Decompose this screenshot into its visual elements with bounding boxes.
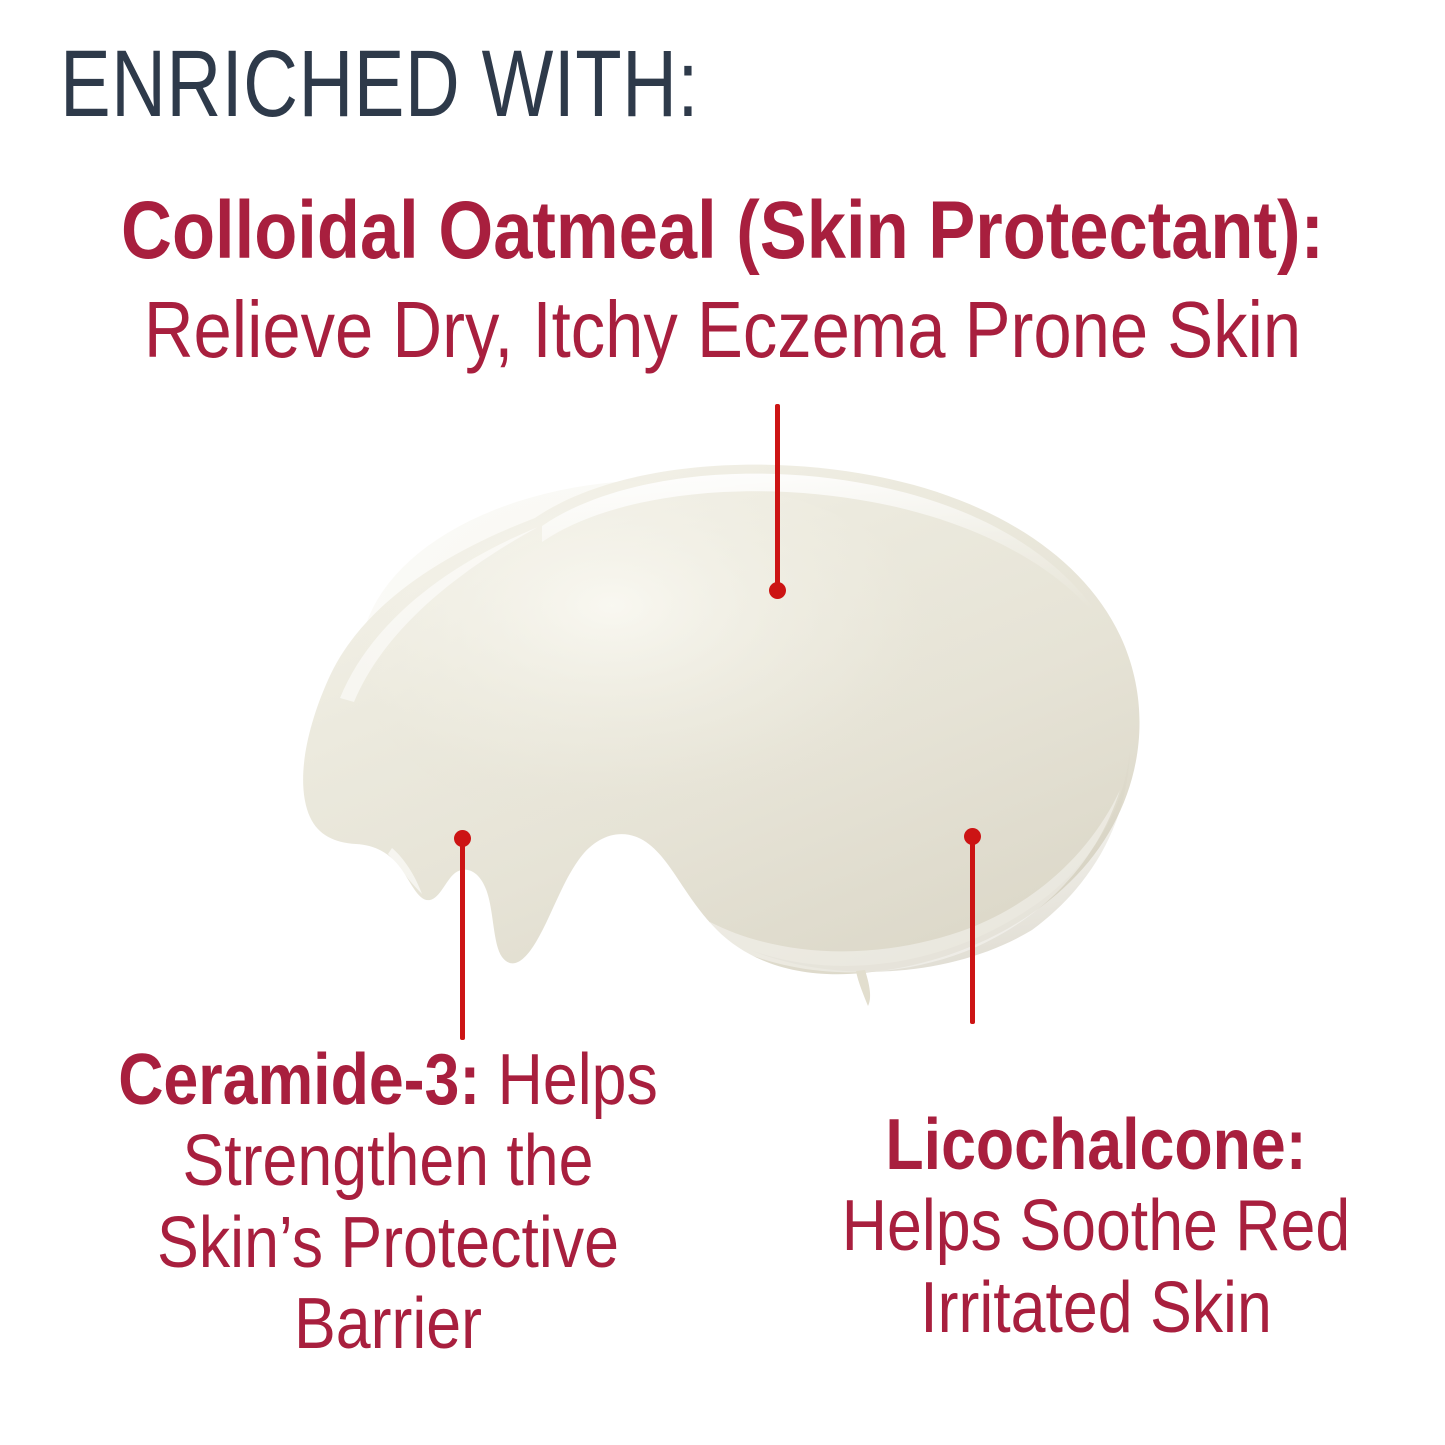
cream-swatch xyxy=(280,430,1160,1010)
ingredient-description-ceramide-3-line-4: Barrier xyxy=(66,1284,710,1365)
ingredient-description-colloidal-oatmeal: Relieve Dry, Itchy Eczema Prone Skin xyxy=(101,288,1344,373)
ingredient-block-licochalcone: Licochalcone: Helps Soothe Red Irritated… xyxy=(760,1105,1432,1349)
pointer-line-colloidal-oatmeal xyxy=(775,404,780,604)
ingredient-term-ceramide-3: Ceramide-3: xyxy=(118,1040,480,1120)
pointer-stem xyxy=(460,838,465,1040)
ingredient-description-ceramide-3-line-2: Strengthen the xyxy=(66,1121,710,1202)
ingredient-line: Ceramide-3: Helps xyxy=(66,1040,710,1121)
pointer-stem xyxy=(775,404,780,592)
pointer-dot xyxy=(769,582,786,599)
ingredient-block-colloidal-oatmeal: Colloidal Oatmeal (Skin Protectant): Rel… xyxy=(0,188,1445,373)
ingredient-description-ceramide-3-line-3: Skin’s Protective xyxy=(66,1203,710,1284)
pointer-dot xyxy=(454,830,471,847)
pointer-line-licochalcone xyxy=(970,828,975,1024)
ingredient-description-licochalcone-line-2: Irritated Skin xyxy=(804,1268,1389,1349)
pointer-dot xyxy=(964,828,981,845)
ingredient-description-ceramide-3-line-1: Helps xyxy=(498,1040,658,1120)
page-title: ENRICHED WITH: xyxy=(60,36,699,133)
ingredient-term-colloidal-oatmeal: Colloidal Oatmeal (Skin Protectant): xyxy=(101,188,1344,274)
ingredient-block-ceramide-3: Ceramide-3: Helps Strengthen the Skin’s … xyxy=(18,1040,758,1365)
pointer-stem xyxy=(970,836,975,1024)
infographic-canvas: ENRICHED WITH: Colloidal Oatmeal (Skin P… xyxy=(0,0,1445,1445)
ingredient-description-licochalcone-line-1: Helps Soothe Red xyxy=(804,1186,1389,1267)
pointer-line-ceramide-3 xyxy=(460,830,465,1040)
ingredient-term-licochalcone: Licochalcone: xyxy=(804,1105,1389,1186)
